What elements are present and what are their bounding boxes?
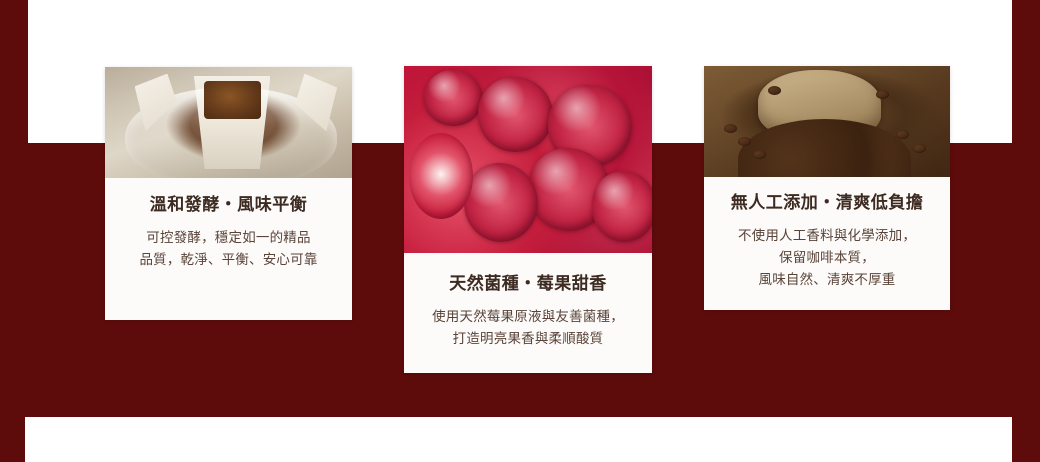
feature-card-3-description: 不使用人工香料與化學添加， 保留咖啡本質， 風味自然、清爽不厚重 (718, 225, 936, 291)
feature-card-3-description-line-3: 風味自然、清爽不厚重 (759, 272, 896, 287)
bean-shape (768, 86, 781, 95)
bean-shape (913, 144, 926, 153)
feature-card-1[interactable]: 溫和發酵・風味平衡 可控發酵，穩定如一的精品 品質，乾淨、平衡、安心可靠 (105, 67, 352, 320)
drip-coffee-bag-photo (105, 67, 352, 178)
bean-shape (896, 130, 909, 139)
feature-card-2-description-line-1: 使用天然莓果原液與友善菌種， (432, 309, 624, 324)
page-white-band-bottom (25, 417, 1012, 462)
feature-card-1-body: 溫和發酵・風味平衡 可控發酵，穩定如一的精品 品質，乾淨、平衡、安心可靠 (105, 178, 352, 289)
berry-shape (424, 70, 484, 126)
feature-card-3[interactable]: 無人工添加・清爽低負擔 不使用人工香料與化學添加， 保留咖啡本質， 風味自然、清… (704, 66, 950, 310)
berry-shape (592, 171, 652, 242)
bean-shape (724, 124, 737, 133)
raspberry-fruit-photo (404, 66, 652, 253)
feature-card-1-description-line-2: 品質，乾淨、平衡、安心可靠 (139, 252, 317, 267)
coffee-beans-sack-photo (704, 66, 950, 177)
feature-card-1-description: 可控發酵，穩定如一的精品 品質，乾淨、平衡、安心可靠 (119, 227, 338, 271)
feature-card-2-body: 天然菌種・莓果甜香 使用天然莓果原液與友善菌種， 打造明亮果香與柔順酸質 (404, 253, 652, 368)
feature-card-1-description-line-1: 可控發酵，穩定如一的精品 (146, 230, 310, 245)
feature-card-2[interactable]: 天然菌種・莓果甜香 使用天然莓果原液與友善菌種， 打造明亮果香與柔順酸質 (404, 66, 652, 373)
feature-card-2-description-line-2: 打造明亮果香與柔順酸質 (453, 331, 604, 346)
feature-card-2-title: 天然菌種・莓果甜香 (418, 273, 638, 294)
feature-card-3-body: 無人工添加・清爽低負擔 不使用人工香料與化學添加， 保留咖啡本質， 風味自然、清… (704, 177, 950, 309)
bean-shape (876, 90, 889, 99)
bean-pile-shape (738, 119, 910, 177)
berry-shape (464, 163, 538, 242)
feature-card-1-title: 溫和發酵・風味平衡 (119, 194, 338, 215)
feature-card-3-description-line-2: 保留咖啡本質， (779, 250, 875, 265)
berry-shape (478, 77, 552, 152)
feature-card-3-title: 無人工添加・清爽低負擔 (718, 192, 936, 213)
feature-cards-section: 溫和發酵・風味平衡 可控發酵，穩定如一的精品 品質，乾淨、平衡、安心可靠 天然菌… (0, 0, 1040, 462)
feature-card-3-description-line-1: 不使用人工香料與化學添加， (738, 228, 916, 243)
feature-card-2-description: 使用天然莓果原液與友善菌種， 打造明亮果香與柔順酸質 (418, 306, 638, 350)
